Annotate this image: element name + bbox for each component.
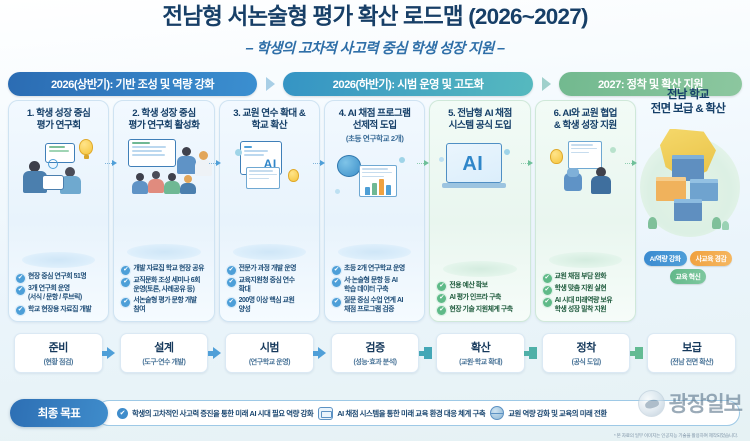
bullet-text: 현장 기술 지원체계 구축 <box>449 306 512 315</box>
bullet-item: ✔ 현장 중심 연구회 51명 <box>16 273 101 283</box>
check-icon: ✔ <box>121 278 130 287</box>
timeline-step-3[interactable]: 시범 (연구학교 운영) <box>225 333 314 373</box>
timeline-step-5[interactable]: 확산 (교원·학교 확대) <box>436 333 525 373</box>
check-icon: ✔ <box>16 286 25 295</box>
illustration-ai-teacher-collab <box>542 135 629 270</box>
bullet-text: 교육지원청 중심 연수 확대 <box>239 277 295 295</box>
illustration-classroom-seminar <box>120 135 207 262</box>
check-icon: ✔ <box>332 298 341 307</box>
card-3-bullets: ✔ 전문가 과정 개발 운영 ✔ 교육지원청 중심 연수 확대 ✔ 200명 이… <box>225 265 314 316</box>
card-title-5: 5. 전남형 AI 채점 시스템 공식 도입 <box>435 108 524 132</box>
timeline-step-6[interactable]: 정착 (공식 도입) <box>542 333 631 373</box>
ai-chip-icon <box>318 407 333 420</box>
bullet-item: ✔ 개발 자료집 학교 현장 공유 <box>121 265 206 275</box>
check-icon: ✔ <box>227 298 236 307</box>
roadmap-card-4[interactable]: 4. AI 채점 프로그램 선제적 도입 (초등 연구학교 2개) ✔ 초등 2… <box>324 100 425 322</box>
check-icon: ✔ <box>227 278 236 287</box>
bullet-text: 현장 중심 연구회 51명 <box>28 273 86 282</box>
timeline-label: 설계 <box>154 339 173 355</box>
timeline-label: 시범 <box>260 339 279 355</box>
phase-banner-item-2[interactable]: 2026(하반기): 시범 운영 및 고도화 <box>283 72 533 96</box>
card-title-3: 3. 교원 연수 확대 & 학교 확산 <box>225 108 314 132</box>
card-connector-5 <box>521 158 533 168</box>
chevron-right-icon <box>542 77 551 91</box>
timeline-step-2[interactable]: 설계 (도구·연수 개발) <box>120 333 209 373</box>
outcome-title: 전남 학교 전면 보급 & 확산 <box>651 88 726 117</box>
phase-label-2: 2026(하반기): 시범 운영 및 고도화 <box>333 76 484 92</box>
bullet-text: 200명 이상 핵심 교원 양성 <box>239 297 295 315</box>
illustration-ai-system-laptop: AI <box>436 135 523 279</box>
roadmap-card-3[interactable]: 3. 교원 연수 확대 & 학교 확산 AI ✔ 전문가 과정 개발 운영 <box>219 100 320 322</box>
phase-connector-1 <box>257 77 283 91</box>
timeline-sublabel: (전남 전면 확산) <box>670 357 713 367</box>
check-icon: ✔ <box>16 274 25 283</box>
bullet-item: ✔ 3개 연구회 운영 (서식 / 문항 / 루브릭) <box>16 285 101 303</box>
card-6-bullets: ✔ 교원 채점 부담 완화 ✔ 학생 맞춤 지원 실현 ✔ AI 시대 미래역량… <box>541 273 630 316</box>
bullet-item: ✔ 현장 기술 지원체계 구축 <box>437 306 522 316</box>
bullet-item: ✔ 질문 중심 수업 연계 AI 채점 프로그램 검증 <box>332 297 417 315</box>
bullet-text: 교직문화 조성 세미나 6회 운영(토론, 사례공유 등) <box>133 277 200 295</box>
roadmap-card-1[interactable]: 1. 학생 성장 중심 평가 연구회 ✔ 현장 중심 연구회 51명 ✔ <box>8 100 109 322</box>
timeline-label: 보급 <box>682 339 701 355</box>
check-icon: ✔ <box>332 266 341 275</box>
roadmap-card-5[interactable]: 5. 전남형 AI 채점 시스템 공식 도입 AI ✔ 전용 예산 확보 ✔ A… <box>429 100 530 322</box>
bullet-item: ✔ 교육지원청 중심 연수 확대 <box>227 277 312 295</box>
bullet-text: AI 평가 인프라 구축 <box>449 294 501 303</box>
bullet-text: 3개 연구회 운영 (서식 / 문항 / 루브릭) <box>28 285 82 303</box>
illustration-ai-scoring <box>331 147 418 262</box>
final-goal-items: ✔ 학생의 고차적인 사고력 증진을 통한 미래 AI 시대 필요 역량 강화 … <box>96 400 740 426</box>
card-title-6: 6. AI와 교원 협업 & 학생 성장 지원 <box>541 108 630 132</box>
goal-item-1: ✔ 학생의 고차적인 사고력 증진을 통한 미래 AI 시대 필요 역량 강화 <box>117 408 313 419</box>
badge-ai-capability[interactable]: AI역량 강화 <box>644 251 687 266</box>
card-connector-4 <box>417 158 429 168</box>
bullet-item: ✔ 교원 채점 부담 완화 <box>543 273 628 283</box>
card-connector-6 <box>625 158 637 168</box>
card-title-4: 4. AI 채점 프로그램 선제적 도입 <box>330 108 419 132</box>
process-timeline: 준비 (현황 점검) 설계 (도구·연수 개발) 시범 (연구학교 운영) 검증… <box>14 332 736 374</box>
chevron-right-icon <box>266 77 275 91</box>
phase-connector-2 <box>533 77 559 91</box>
card-title-1: 1. 학생 성장 중심 평가 연구회 <box>14 108 103 132</box>
bullet-text: 초등 2개 연구학교 운영 <box>344 265 405 274</box>
card-2-bullets: ✔ 개발 자료집 학교 현장 공유 ✔ 교직문화 조성 세미나 6회 운영(토론… <box>119 265 208 316</box>
timeline-step-7[interactable]: 보급 (전남 전면 확산) <box>647 333 736 373</box>
check-icon: ✔ <box>437 294 446 303</box>
timeline-sublabel: (도구·연수 개발) <box>142 357 185 367</box>
timeline-sublabel: (연구학교 운영) <box>249 357 290 367</box>
timeline-arrow-icon <box>525 347 542 359</box>
card-connector-1 <box>105 158 117 168</box>
timeline-arrow-icon <box>314 347 331 359</box>
timeline-label: 검증 <box>365 339 384 355</box>
check-icon: ✔ <box>121 266 130 275</box>
bullet-text: 학교 현장용 자료집 개발 <box>28 306 91 315</box>
check-icon: ✔ <box>117 408 128 419</box>
timeline-sublabel: (성능·효과 분석) <box>353 357 396 367</box>
goal-text: AI 채점 시스템을 통한 미래 교육 환경 대응 체계 구축 <box>337 408 485 419</box>
check-icon: ✔ <box>437 282 446 291</box>
bullet-item: ✔ 서논술형 평가 문항 개발 참여 <box>121 297 206 315</box>
illustration-school-expansion <box>634 121 742 249</box>
globe-icon <box>490 406 504 420</box>
check-icon: ✔ <box>543 286 552 295</box>
check-icon: ✔ <box>332 278 341 287</box>
roadmap-card-6[interactable]: 6. AI와 교원 협업 & 학생 성장 지원 ✔ 교원 채점 부담 완화 ✔ … <box>535 100 636 322</box>
bullet-item: ✔ AI 평가 인프라 구축 <box>437 294 522 304</box>
goal-text: 교원 역량 강화 및 교육의 미래 전환 <box>508 408 607 419</box>
timeline-arrow-icon <box>208 347 225 359</box>
bullet-text: 개발 자료집 학교 현장 공유 <box>133 265 204 274</box>
goal-item-2: AI 채점 시스템을 통한 미래 교육 환경 대응 체계 구축 <box>318 407 485 420</box>
header: 전남형 서논술형 평가 확산 로드맵 (2026~2027) – 학생의 고차적… <box>0 0 750 58</box>
goal-item-3: 교원 역량 강화 및 교육의 미래 전환 <box>490 406 607 420</box>
bullet-item: ✔ 학생 맞춤 지원 실현 <box>543 285 628 295</box>
page-title: 전남형 서논술형 평가 확산 로드맵 (2026~2027) <box>0 5 750 30</box>
card-5-bullets: ✔ 전용 예산 확보 ✔ AI 평가 인프라 구축 ✔ 현장 기술 지원체계 구… <box>435 282 524 317</box>
card-subtitle-4: (초등 연구학교 2개) <box>330 133 419 144</box>
timeline-arrow-icon <box>630 347 647 359</box>
timeline-sublabel: (교원·학교 확대) <box>459 357 502 367</box>
card-1-bullets: ✔ 현장 중심 연구회 51명 ✔ 3개 연구회 운영 (서식 / 문항 / 루… <box>14 273 103 316</box>
bullet-text: 학생 맞춤 지원 실현 <box>555 285 607 294</box>
bullet-item: ✔ 교직문화 조성 세미나 6회 운영(토론, 사례공유 등) <box>121 277 206 295</box>
bullet-item: ✔ 200명 이상 핵심 교원 양성 <box>227 297 312 315</box>
bullet-text: 전문가 과정 개발 운영 <box>239 265 296 274</box>
card-connector-2 <box>209 158 221 168</box>
footnote: * 본 자료의 일부 이미지는 인공지능 기술을 활용하여 제작되었습니다. <box>614 433 738 439</box>
bullet-text: 질문 중심 수업 연계 AI 채점 프로그램 검증 <box>344 297 403 315</box>
card-connector-3 <box>313 158 325 168</box>
page-subtitle: – 학생의 고차적 사고력 중심 학생 성장 지원 – <box>0 37 750 58</box>
roadmap-card-2[interactable]: 2. 학생 성장 중심 평가 연구회 활성화 ✔ <box>113 100 214 322</box>
goal-text: 학생의 고차적인 사고력 증진을 통한 미래 AI 시대 필요 역량 강화 <box>132 408 313 419</box>
outcome-panel: 전남 학교 전면 보급 & 확산 AI역량 강화 사교육 경감 교육 혁신 <box>632 88 744 320</box>
check-icon: ✔ <box>543 274 552 283</box>
timeline-label: 정착 <box>577 339 596 355</box>
timeline-label: 준비 <box>49 339 68 355</box>
check-icon: ✔ <box>121 298 130 307</box>
phase-label-1: 2026(상반기): 기반 조성 및 역량 강화 <box>51 76 214 92</box>
bullet-text: 서논술형 평가 문항 개발 참여 <box>133 297 196 315</box>
bullet-item: ✔ AI 시대 미래역량 보유 학생 성장 밀착 지원 <box>543 297 628 315</box>
badge-education-innovation[interactable]: 교육 혁신 <box>670 269 707 284</box>
timeline-step-1[interactable]: 준비 (현황 점검) <box>14 333 103 373</box>
bullet-text: 전용 예산 확보 <box>449 282 487 291</box>
timeline-sublabel: (현황 점검) <box>44 357 73 367</box>
bullet-text: AI 시대 미래역량 보유 학생 성장 밀착 지원 <box>555 297 613 315</box>
bullet-item: ✔ 전용 예산 확보 <box>437 282 522 292</box>
badge-private-education-reduction[interactable]: 사교육 경감 <box>690 251 733 266</box>
timeline-step-4[interactable]: 검증 (성능·효과 분석) <box>331 333 420 373</box>
illustration-teacher-training: AI <box>226 135 313 262</box>
timeline-sublabel: (공식 도입) <box>572 357 601 367</box>
final-goal-bar: 최종 목표 ✔ 학생의 고차적인 사고력 증진을 통한 미래 AI 시대 필요 … <box>10 398 740 428</box>
check-icon: ✔ <box>16 306 25 315</box>
timeline-arrow-icon <box>419 347 436 359</box>
bullet-item: ✔ 전문가 과정 개발 운영 <box>227 265 312 275</box>
outcome-badges: AI역량 강화 사교육 경감 교육 혁신 <box>632 251 744 284</box>
roadmap-cards: 1. 학생 성장 중심 평가 연구회 ✔ 현장 중심 연구회 51명 ✔ <box>8 100 636 322</box>
bullet-item: ✔ 서·논술형 문항 등 AI 학습 데이터 구축 <box>332 277 417 295</box>
bullet-text: 서·논술형 문항 등 AI 학습 데이터 구축 <box>344 277 397 295</box>
final-goal-label: 최종 목표 <box>10 399 108 427</box>
phase-banner-item-1[interactable]: 2026(상반기): 기반 조성 및 역량 강화 <box>8 72 257 96</box>
bullet-text: 교원 채점 부담 완화 <box>555 273 607 282</box>
bullet-item: ✔ 학교 현장용 자료집 개발 <box>16 306 101 316</box>
illustration-research-meeting <box>15 135 102 270</box>
check-icon: ✔ <box>437 306 446 315</box>
timeline-label: 확산 <box>471 339 490 355</box>
bullet-item: ✔ 초등 2개 연구학교 운영 <box>332 265 417 275</box>
timeline-arrow-icon <box>103 347 120 359</box>
card-4-bullets: ✔ 초등 2개 연구학교 운영 ✔ 서·논술형 문항 등 AI 학습 데이터 구… <box>330 265 419 316</box>
card-title-2: 2. 학생 성장 중심 평가 연구회 활성화 <box>119 108 208 132</box>
check-icon: ✔ <box>227 266 236 275</box>
check-icon: ✔ <box>543 298 552 307</box>
